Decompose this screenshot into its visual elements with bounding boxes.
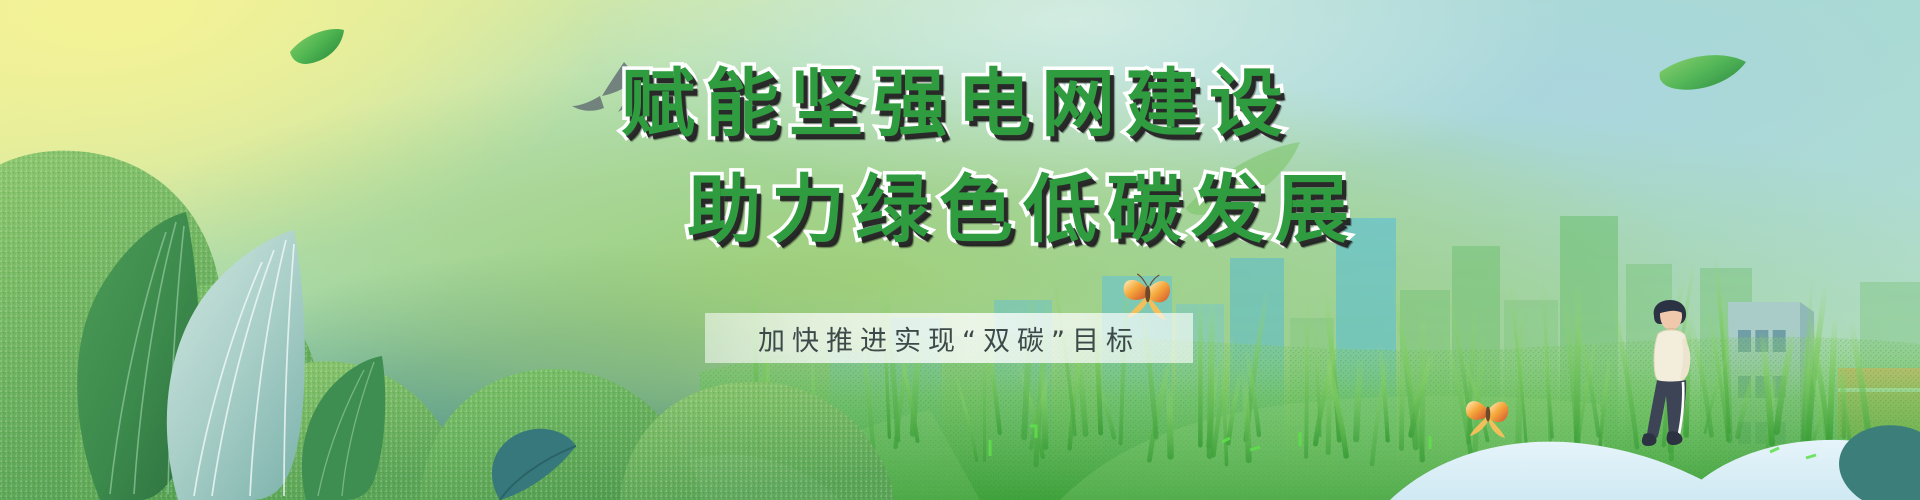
eco-banner: 赋能坚强电网建设 助力绿色低碳发展 加快推进实现“双碳”目标 [0, 0, 1920, 500]
subtitle-ribbon: 加快推进实现“双碳”目标 [705, 313, 1193, 363]
grass-blade [1686, 311, 1689, 435]
city-skyline [0, 0, 1920, 500]
grass-blade [1401, 344, 1402, 448]
grass-blade [1843, 349, 1844, 437]
grass-blade [1169, 381, 1171, 457]
grass-blade [1328, 346, 1331, 453]
grass-blade [1518, 303, 1522, 466]
grass-blade [1306, 293, 1308, 457]
subtitle-text: 加快推进实现“双碳”目标 [758, 319, 1140, 358]
grass-blade [1210, 299, 1212, 456]
grass-blade [1043, 367, 1045, 447]
